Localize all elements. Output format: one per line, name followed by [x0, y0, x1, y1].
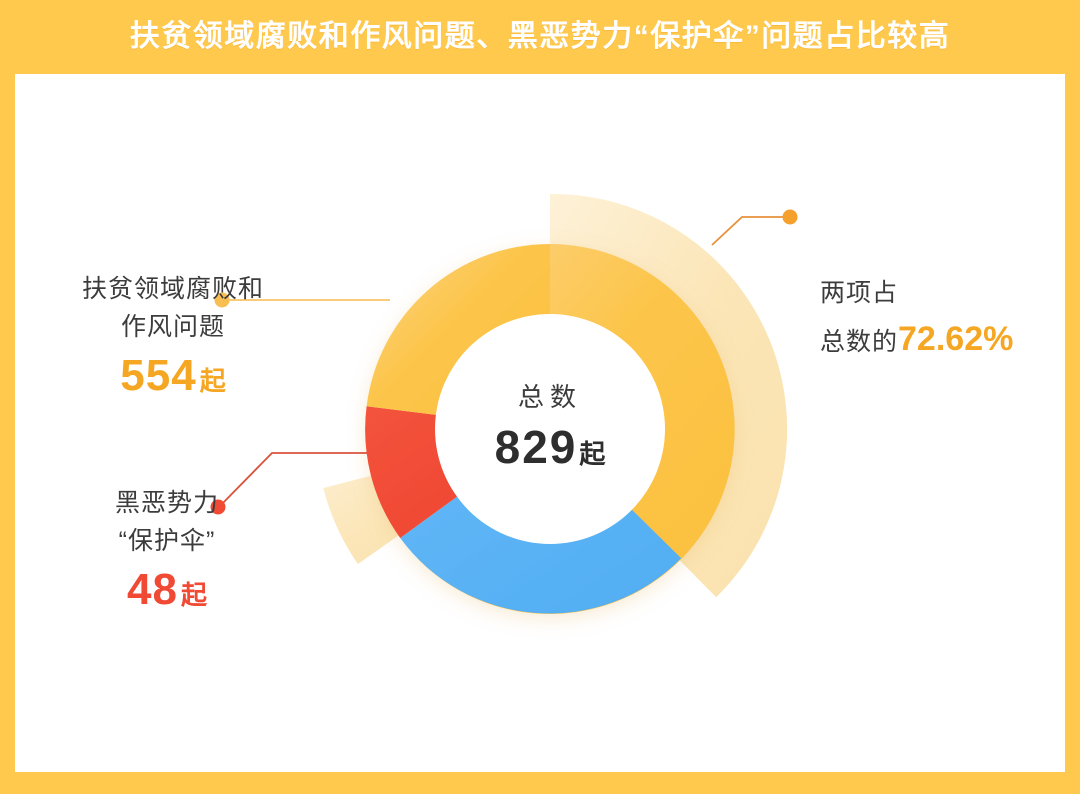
infographic-page: 扶贫领域腐败和作风问题、黑恶势力“保护伞”问题占比较高 — [0, 0, 1080, 794]
callout-share-line1: 两项占 — [820, 270, 1013, 316]
title-bar: 扶贫领域腐败和作风问题、黑恶势力“保护伞”问题占比较高 — [0, 0, 1080, 74]
callout-poverty-line1: 扶贫领域腐败和 — [53, 270, 293, 308]
center-total-value: 829起 — [280, 424, 820, 470]
callout-share-line2: 总数的72.62% — [820, 316, 1013, 365]
callout-share-prefix: 总数的 — [820, 328, 898, 356]
callout-umbrella-line2: “保护伞” — [77, 522, 257, 560]
callout-share-percent: 72.62% — [898, 320, 1013, 358]
callout-umbrella-value: 48起 — [77, 568, 257, 612]
donut-center-text: 总数 829起 — [280, 377, 820, 470]
callout-poverty: 扶贫领域腐败和 作风问题 554起 — [53, 270, 293, 398]
callout-poverty-line2: 作风问题 — [53, 308, 293, 346]
callout-share: 两项占 总数的72.62% — [820, 270, 1013, 365]
callout-umbrella: 黑恶势力 “保护伞” 48起 — [77, 484, 257, 612]
callout-umbrella-line1: 黑恶势力 — [77, 484, 257, 522]
callout-poverty-number: 554 — [120, 351, 196, 400]
center-total-number: 829 — [495, 421, 578, 473]
callout-umbrella-unit: 起 — [181, 580, 207, 610]
page-title: 扶贫领域腐败和作风问题、黑恶势力“保护伞”问题占比较高 — [130, 22, 951, 52]
content-card: 总数 829起 扶贫 — [15, 74, 1065, 772]
center-total-label: 总数 — [280, 377, 820, 414]
callout-umbrella-number: 48 — [127, 565, 178, 614]
callout-poverty-value: 554起 — [53, 354, 293, 398]
center-total-unit: 起 — [579, 439, 605, 469]
donut-chart: 总数 829起 — [280, 159, 820, 699]
callout-poverty-unit: 起 — [200, 366, 226, 396]
